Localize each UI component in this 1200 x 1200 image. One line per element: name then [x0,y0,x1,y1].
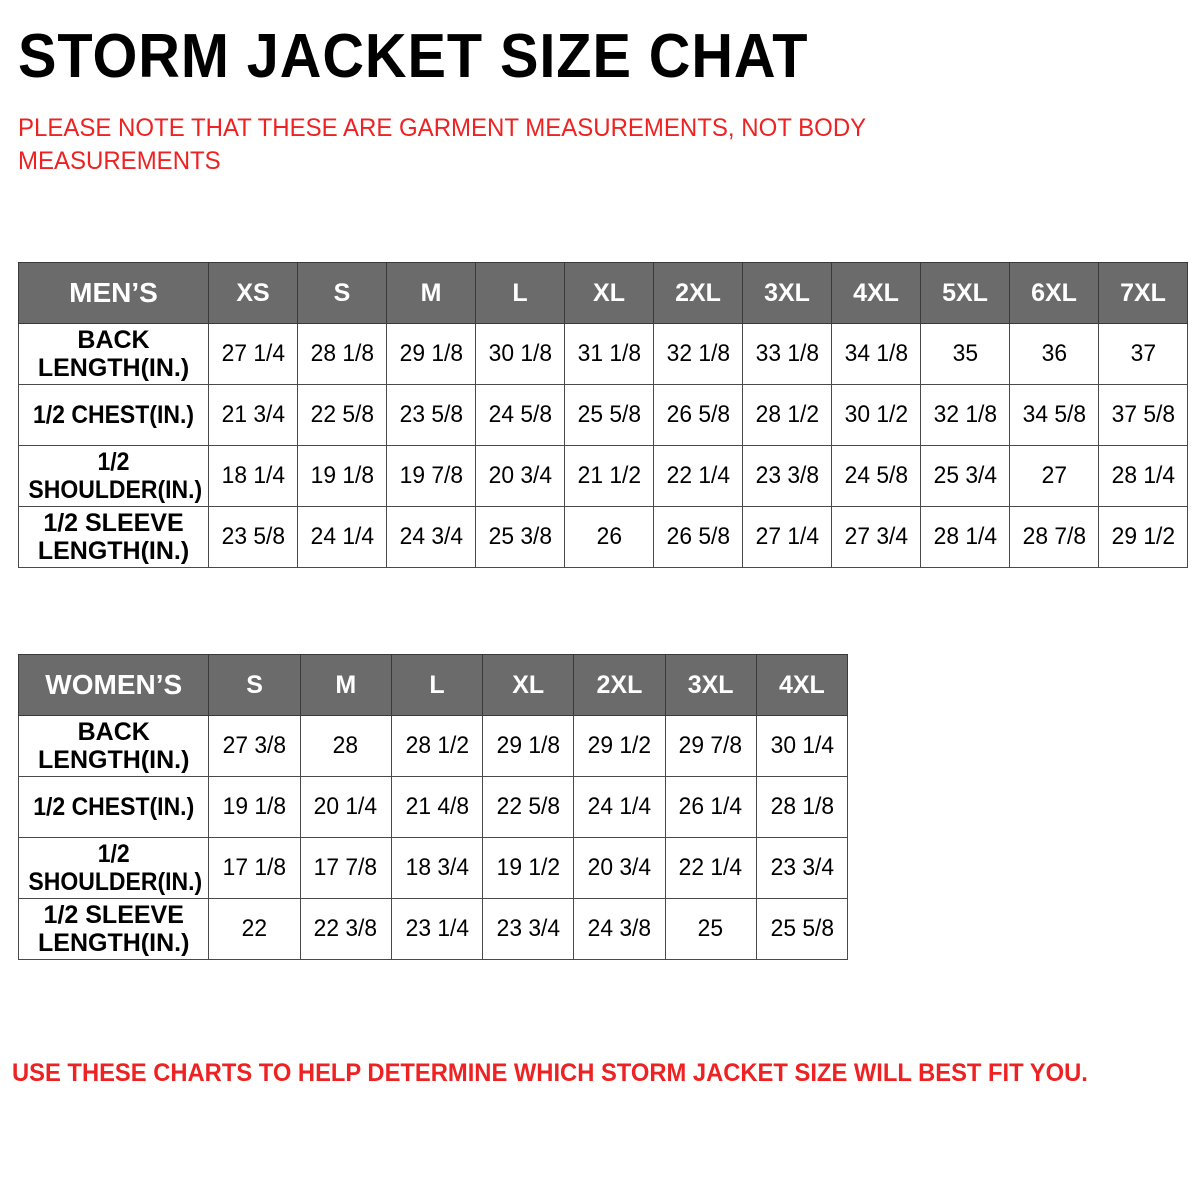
measurement-value: 24 1/4 [588,793,651,821]
measurement-cell: 28 1/2 [743,385,832,446]
table-row: 1/2 SHOULDER(IN.)18 1/419 1/819 7/820 3/… [19,446,1188,507]
measurement-cell: 27 3/8 [209,716,300,777]
womens-size-header-2xl: 2XL [574,655,665,716]
measurement-value: 24 5/8 [488,401,551,429]
measurement-value: 36 [1041,340,1066,368]
measurement-value: 29 1/2 [588,732,651,760]
measurement-cell: 23 5/8 [387,385,476,446]
measurement-value: 29 7/8 [679,732,742,760]
measurement-value: 18 3/4 [405,854,468,882]
womens-table-body: BACK LENGTH(IN.)27 3/82828 1/229 1/829 1… [19,716,848,960]
measurement-cell: 21 3/4 [209,385,298,446]
womens-size-header-l: L [391,655,482,716]
measurement-label-text: 1/2 SLEEVE LENGTH(IN.) [19,901,208,957]
measurement-value: 24 1/4 [310,523,373,551]
measurement-value: 26 5/8 [666,523,729,551]
measurement-cell: 23 3/4 [756,838,847,899]
measurement-value: 21 4/8 [405,793,468,821]
table-row: 1/2 SLEEVE LENGTH(IN.)2222 3/823 1/423 3… [19,899,848,960]
womens-size-header-4xl: 4XL [756,655,847,716]
measurement-value: 25 5/8 [577,401,640,429]
mens-measurement-label: 1/2 SHOULDER(IN.) [19,446,209,507]
mens-size-header-xl: XL [565,263,654,324]
measurement-cell: 23 5/8 [209,507,298,568]
measurement-cell: 19 1/8 [209,777,300,838]
measurement-cell: 24 1/4 [574,777,665,838]
measurement-value: 30 1/4 [770,732,833,760]
womens-measurement-label: BACK LENGTH(IN.) [19,716,209,777]
measurement-cell: 24 3/4 [387,507,476,568]
measurement-value: 23 5/8 [221,523,284,551]
page-title: STORM JACKET SIZE CHAT [18,26,808,88]
measurement-value: 25 3/4 [933,462,996,490]
measurement-label-text: 1/2 SHOULDER(IN.) [27,840,201,896]
mens-size-header-s: S [298,263,387,324]
measurement-cell: 23 3/4 [483,899,574,960]
measurement-value: 23 5/8 [399,401,462,429]
measurement-value: 32 1/8 [933,401,996,429]
womens-table-header: WOMEN’SSMLXL2XL3XL4XL [19,655,848,716]
measurement-value: 22 1/4 [666,462,729,490]
measurement-cell: 17 1/8 [209,838,300,899]
measurement-value: 27 [1041,462,1066,490]
garment-measurement-note: PLEASE NOTE THAT THESE ARE GARMENT MEASU… [18,112,940,178]
measurement-cell: 33 1/8 [743,324,832,385]
measurement-label-text: 1/2 SHOULDER(IN.) [27,448,201,504]
mens-table-header: MEN’SXSSMLXL2XL3XL4XL5XL6XL7XL [19,263,1188,324]
womens-size-header-xl: XL [483,655,574,716]
measurement-cell: 29 1/2 [574,716,665,777]
measurement-value: 22 3/8 [314,915,377,943]
measurement-cell: 21 4/8 [391,777,482,838]
measurement-cell: 27 1/4 [743,507,832,568]
measurement-value: 19 1/2 [497,854,560,882]
womens-measurement-label: 1/2 SHOULDER(IN.) [19,838,209,899]
measurement-value: 33 1/8 [755,340,818,368]
womens-size-header-s: S [209,655,300,716]
measurement-value: 28 1/2 [405,732,468,760]
womens-size-header-m: M [300,655,391,716]
table-row: BACK LENGTH(IN.)27 3/82828 1/229 1/829 1… [19,716,848,777]
table-row: BACK LENGTH(IN.)27 1/428 1/829 1/830 1/8… [19,324,1188,385]
measurement-cell: 36 [1010,324,1099,385]
measurement-value: 20 3/4 [488,462,551,490]
measurement-cell: 23 1/4 [391,899,482,960]
measurement-cell: 30 1/4 [756,716,847,777]
measurement-value: 22 5/8 [310,401,373,429]
measurement-cell: 22 5/8 [483,777,574,838]
measurement-value: 17 7/8 [314,854,377,882]
measurement-label-text: BACK LENGTH(IN.) [19,326,208,382]
womens-size-table: WOMEN’SSMLXL2XL3XL4XL BACK LENGTH(IN.)27… [18,654,848,960]
mens-size-header-7xl: 7XL [1099,263,1188,324]
womens-header-row: WOMEN’SSMLXL2XL3XL4XL [19,655,848,716]
measurement-value: 34 5/8 [1022,401,1085,429]
measurement-value: 25 [698,915,723,943]
womens-measurement-label: 1/2 CHEST(IN.) [19,777,209,838]
table-row: 1/2 SHOULDER(IN.)17 1/817 7/818 3/419 1/… [19,838,848,899]
mens-corner-header: MEN’S [19,263,209,324]
measurement-value: 17 1/8 [223,854,286,882]
mens-measurement-label: 1/2 CHEST(IN.) [19,385,209,446]
measurement-value: 32 1/8 [666,340,729,368]
measurement-cell: 29 1/2 [1099,507,1188,568]
measurement-cell: 27 [1010,446,1099,507]
measurement-cell: 20 3/4 [574,838,665,899]
mens-size-header-5xl: 5XL [921,263,1010,324]
measurement-cell: 17 7/8 [300,838,391,899]
measurement-value: 19 1/8 [310,462,373,490]
measurement-cell: 28 1/2 [391,716,482,777]
measurement-cell: 26 [565,507,654,568]
measurement-cell: 28 1/4 [1099,446,1188,507]
mens-size-table: MEN’SXSSMLXL2XL3XL4XL5XL6XL7XL BACK LENG… [18,262,1188,568]
measurement-value: 23 3/4 [497,915,560,943]
mens-size-header-xs: XS [209,263,298,324]
table-row: 1/2 SLEEVE LENGTH(IN.)23 5/824 1/424 3/4… [19,507,1188,568]
measurement-value: 24 3/8 [588,915,651,943]
measurement-value: 18 1/4 [221,462,284,490]
measurement-cell: 22 [209,899,300,960]
measurement-value: 27 3/8 [223,732,286,760]
measurement-cell: 32 1/8 [921,385,1010,446]
measurement-value: 29 1/8 [497,732,560,760]
measurement-cell: 24 3/8 [574,899,665,960]
measurement-cell: 30 1/8 [476,324,565,385]
measurement-value: 26 5/8 [666,401,729,429]
measurement-cell: 25 3/4 [921,446,1010,507]
measurement-value: 24 5/8 [844,462,907,490]
measurement-value: 28 [333,732,358,760]
measurement-cell: 24 1/4 [298,507,387,568]
measurement-cell: 29 1/8 [483,716,574,777]
measurement-label-text: 1/2 SLEEVE LENGTH(IN.) [19,509,208,565]
measurement-value: 37 5/8 [1111,401,1174,429]
womens-size-header-3xl: 3XL [665,655,756,716]
measurement-value: 23 3/8 [755,462,818,490]
measurement-label-text: BACK LENGTH(IN.) [19,718,208,774]
measurement-value: 26 1/4 [679,793,742,821]
measurement-cell: 20 1/4 [300,777,391,838]
measurement-cell: 34 5/8 [1010,385,1099,446]
measurement-value: 29 1/8 [399,340,462,368]
measurement-value: 19 7/8 [399,462,462,490]
measurement-cell: 28 [300,716,391,777]
measurement-cell: 24 5/8 [476,385,565,446]
measurement-cell: 21 1/2 [565,446,654,507]
measurement-value: 28 1/2 [755,401,818,429]
measurement-cell: 22 1/4 [654,446,743,507]
mens-size-header-6xl: 6XL [1010,263,1099,324]
measurement-cell: 32 1/8 [654,324,743,385]
measurement-cell: 25 5/8 [756,899,847,960]
measurement-value: 28 1/4 [933,523,996,551]
measurement-value: 25 5/8 [770,915,833,943]
measurement-cell: 24 5/8 [832,446,921,507]
table-row: 1/2 CHEST(IN.)19 1/820 1/421 4/822 5/824… [19,777,848,838]
measurement-value: 22 5/8 [497,793,560,821]
measurement-cell: 22 3/8 [300,899,391,960]
measurement-value: 30 1/2 [844,401,907,429]
mens-header-row: MEN’SXSSMLXL2XL3XL4XL5XL6XL7XL [19,263,1188,324]
mens-measurement-label: 1/2 SLEEVE LENGTH(IN.) [19,507,209,568]
measurement-cell: 25 5/8 [565,385,654,446]
measurement-cell: 28 1/4 [921,507,1010,568]
measurement-value: 28 1/4 [1111,462,1174,490]
measurement-cell: 26 5/8 [654,385,743,446]
measurement-cell: 37 [1099,324,1188,385]
measurement-value: 37 [1130,340,1155,368]
measurement-cell: 27 1/4 [209,324,298,385]
womens-corner-header: WOMEN’S [19,655,209,716]
measurement-cell: 26 1/4 [665,777,756,838]
measurement-value: 27 3/4 [844,523,907,551]
measurement-cell: 28 1/8 [756,777,847,838]
mens-size-header-2xl: 2XL [654,263,743,324]
measurement-cell: 28 1/8 [298,324,387,385]
measurement-value: 28 1/8 [770,793,833,821]
measurement-cell: 29 7/8 [665,716,756,777]
measurement-cell: 19 1/8 [298,446,387,507]
measurement-value: 27 1/4 [755,523,818,551]
mens-measurement-label: BACK LENGTH(IN.) [19,324,209,385]
mens-table-body: BACK LENGTH(IN.)27 1/428 1/829 1/830 1/8… [19,324,1188,568]
measurement-cell: 22 5/8 [298,385,387,446]
measurement-value: 28 7/8 [1022,523,1085,551]
measurement-cell: 19 7/8 [387,446,476,507]
measurement-value: 26 [596,523,621,551]
measurement-value: 25 3/8 [488,523,551,551]
measurement-cell: 23 3/8 [743,446,832,507]
measurement-value: 21 1/2 [577,462,640,490]
measurement-cell: 18 1/4 [209,446,298,507]
measurement-value: 24 3/4 [399,523,462,551]
measurement-cell: 22 1/4 [665,838,756,899]
use-chart-note: USE THESE CHARTS TO HELP DETERMINE WHICH… [12,1058,1088,1088]
measurement-value: 20 1/4 [314,793,377,821]
measurement-value: 19 1/8 [223,793,286,821]
measurement-value: 29 1/2 [1111,523,1174,551]
measurement-value: 22 1/4 [679,854,742,882]
measurement-cell: 18 3/4 [391,838,482,899]
measurement-label-text: 1/2 CHEST(IN.) [27,401,201,429]
measurement-cell: 29 1/8 [387,324,476,385]
measurement-cell: 19 1/2 [483,838,574,899]
measurement-cell: 35 [921,324,1010,385]
mens-size-header-l: L [476,263,565,324]
measurement-cell: 26 5/8 [654,507,743,568]
measurement-value: 22 [242,915,267,943]
measurement-value: 35 [952,340,977,368]
measurement-cell: 20 3/4 [476,446,565,507]
mens-size-header-3xl: 3XL [743,263,832,324]
measurement-cell: 30 1/2 [832,385,921,446]
measurement-cell: 34 1/8 [832,324,921,385]
mens-size-header-4xl: 4XL [832,263,921,324]
womens-measurement-label: 1/2 SLEEVE LENGTH(IN.) [19,899,209,960]
measurement-value: 28 1/8 [310,340,373,368]
table-row: 1/2 CHEST(IN.)21 3/422 5/823 5/824 5/825… [19,385,1188,446]
measurement-label-text: 1/2 CHEST(IN.) [27,793,201,821]
measurement-value: 30 1/8 [488,340,551,368]
measurement-value: 27 1/4 [221,340,284,368]
measurement-cell: 25 [665,899,756,960]
measurement-value: 23 3/4 [770,854,833,882]
measurement-value: 31 1/8 [577,340,640,368]
size-chart-page: STORM JACKET SIZE CHAT PLEASE NOTE THAT … [0,0,1200,1200]
measurement-value: 23 1/4 [405,915,468,943]
mens-size-header-m: M [387,263,476,324]
measurement-cell: 25 3/8 [476,507,565,568]
measurement-cell: 37 5/8 [1099,385,1188,446]
measurement-cell: 28 7/8 [1010,507,1099,568]
measurement-value: 21 3/4 [221,401,284,429]
measurement-value: 34 1/8 [844,340,907,368]
measurement-cell: 31 1/8 [565,324,654,385]
measurement-value: 20 3/4 [588,854,651,882]
measurement-cell: 27 3/4 [832,507,921,568]
